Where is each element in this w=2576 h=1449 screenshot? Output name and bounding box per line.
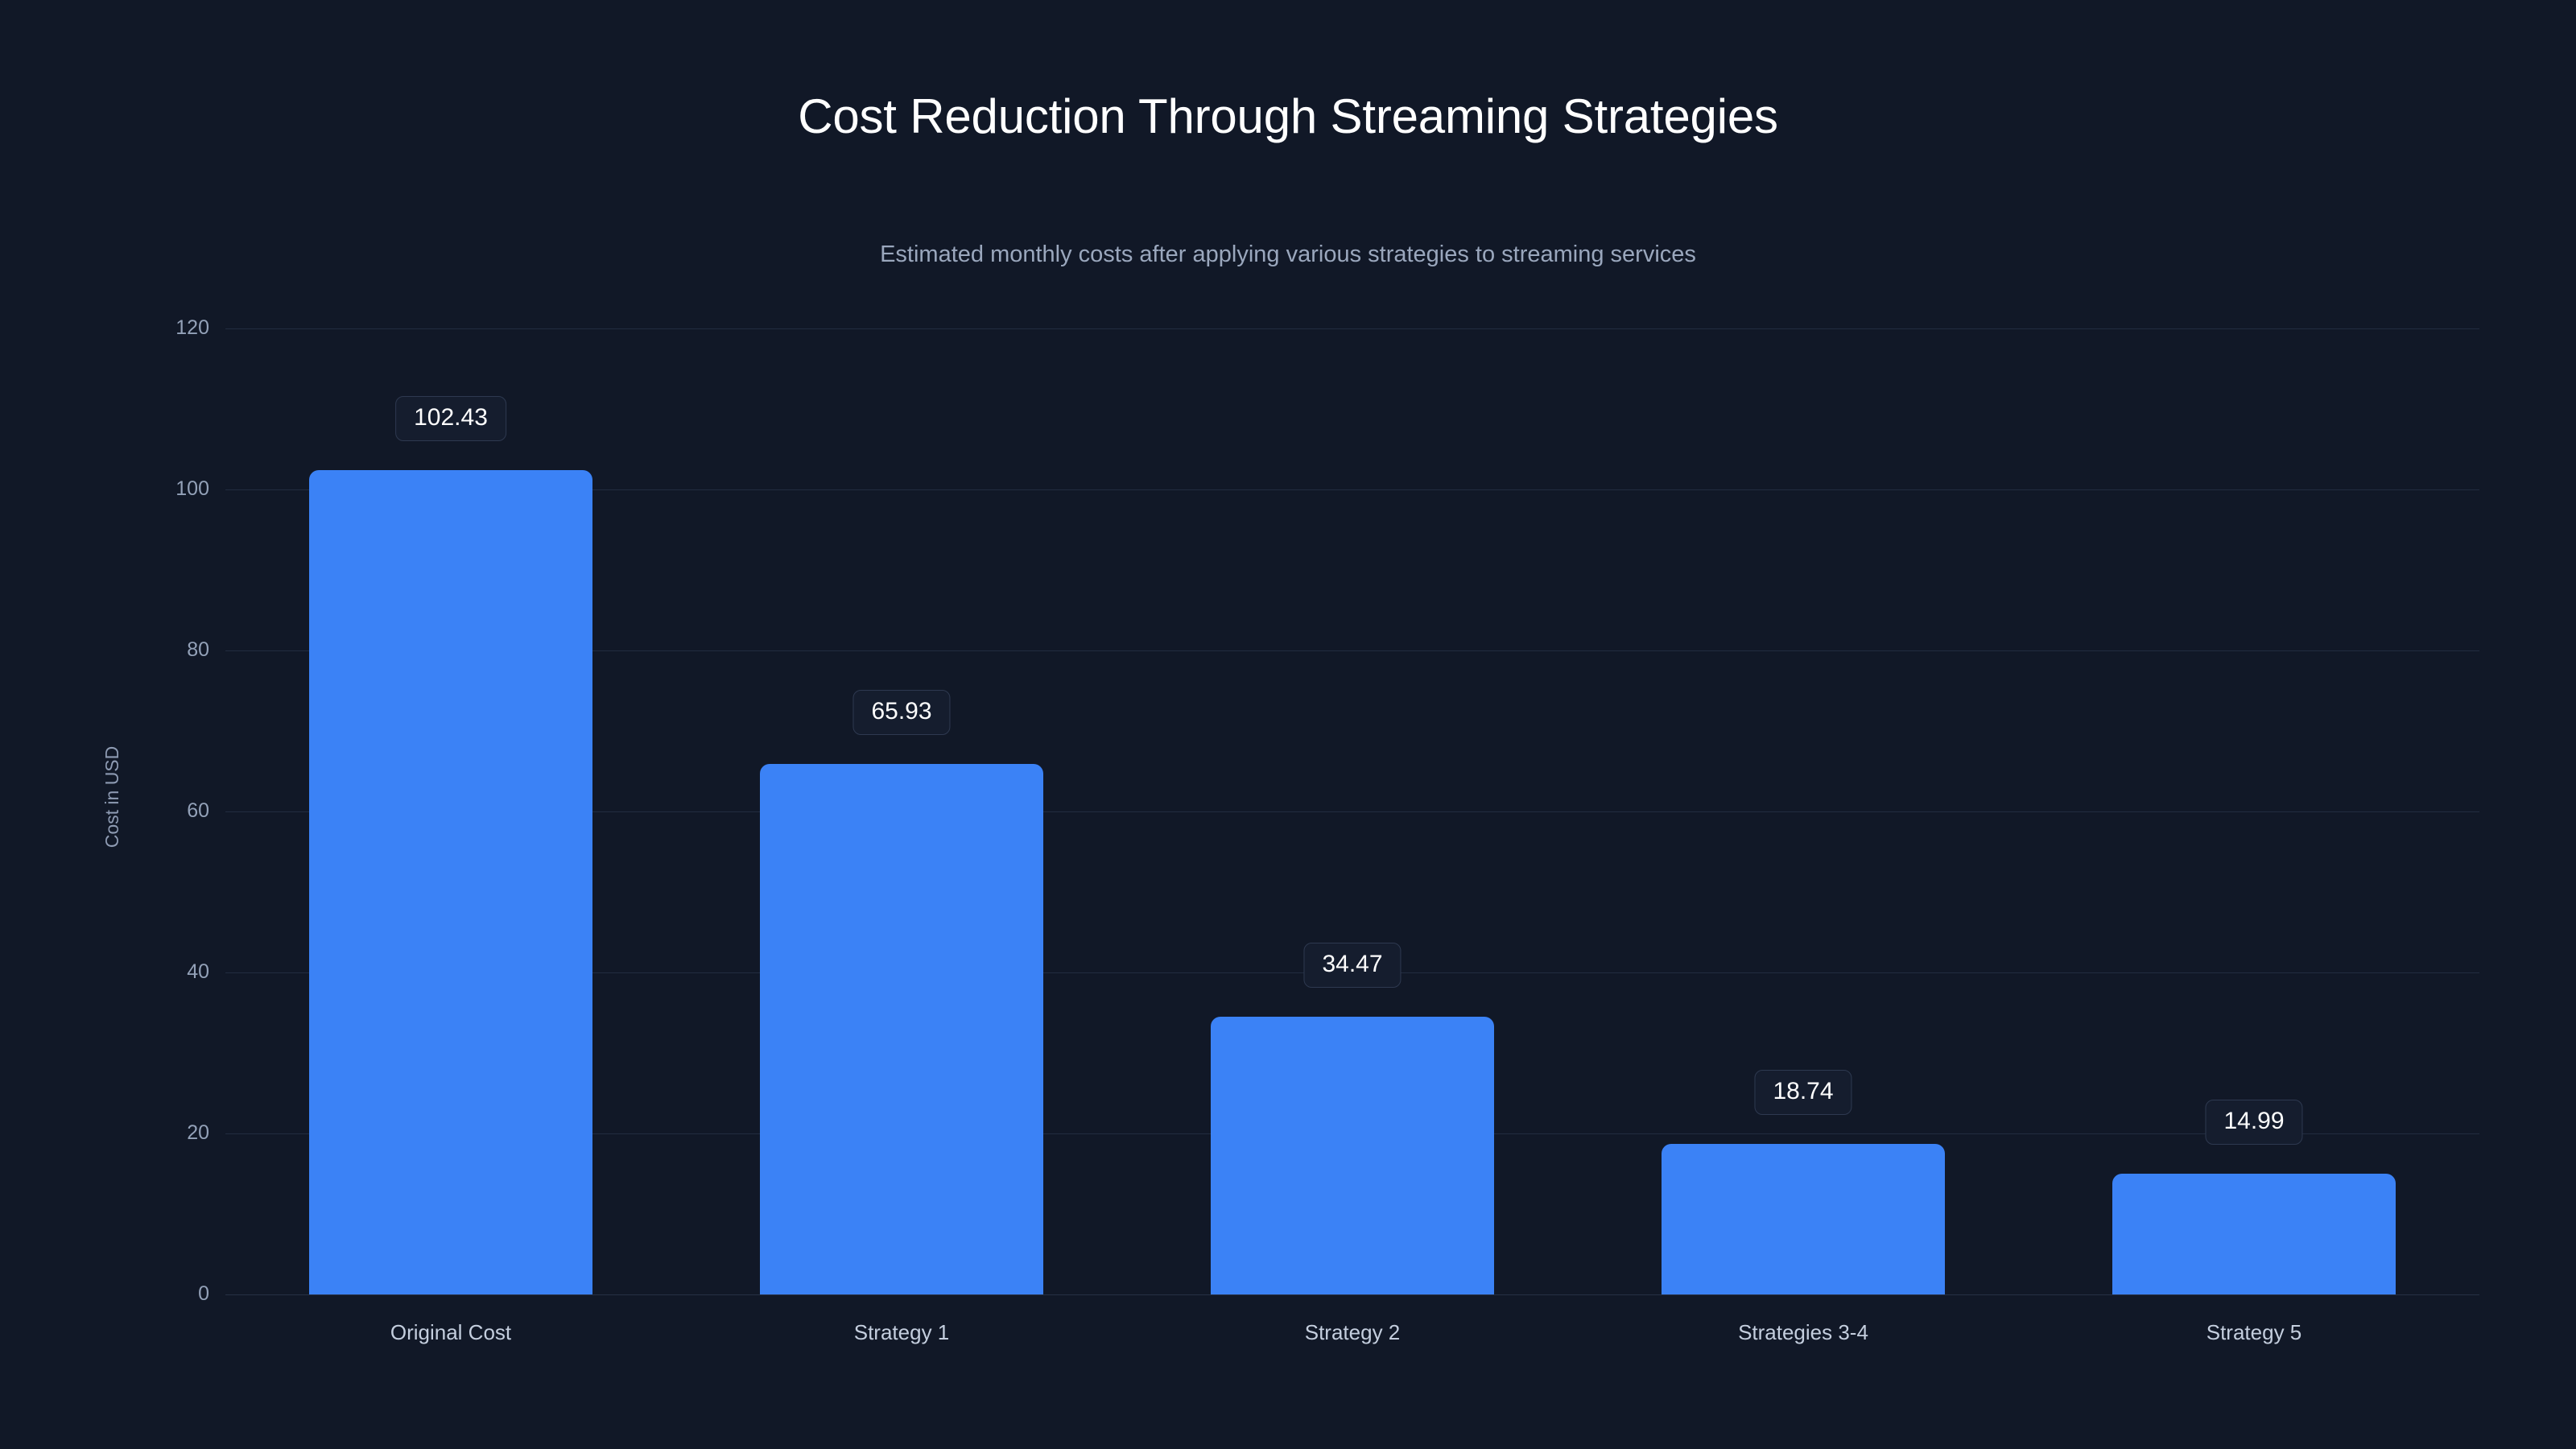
bar-value-label: 18.74 <box>1754 1070 1851 1115</box>
bar[interactable] <box>1662 1144 1945 1294</box>
bar[interactable] <box>309 470 592 1294</box>
bar-value-label: 102.43 <box>395 396 506 441</box>
gridline <box>225 1294 2479 1295</box>
x-axis-category-label: Strategy 5 <box>2207 1320 2302 1345</box>
x-axis-category-label: Strategy 1 <box>854 1320 950 1345</box>
y-axis-tick-label: 100 <box>113 477 209 501</box>
y-axis-tick-label: 0 <box>113 1282 209 1306</box>
bar[interactable] <box>2112 1174 2396 1294</box>
bar[interactable] <box>1211 1017 1494 1294</box>
bar[interactable] <box>760 764 1043 1294</box>
gridline <box>225 328 2479 329</box>
y-axis-tick-label: 120 <box>113 316 209 340</box>
x-axis-category-label: Strategies 3-4 <box>1738 1320 1868 1345</box>
x-axis-category-label: Strategy 2 <box>1305 1320 1401 1345</box>
x-axis-category-label: Original Cost <box>390 1320 511 1345</box>
bar-value-label: 65.93 <box>852 690 950 735</box>
page-title: Cost Reduction Through Streaming Strateg… <box>0 89 2576 144</box>
bar-value-label: 34.47 <box>1303 943 1401 988</box>
chart-subtitle: Estimated monthly costs after applying v… <box>0 242 2576 268</box>
y-axis-tick-label: 80 <box>113 638 209 662</box>
bar-chart: Cost Reduction Through Streaming Strateg… <box>0 0 2576 1449</box>
plot-area: 020406080100120102.43Original Cost65.93S… <box>225 328 2479 1294</box>
y-axis-title: Cost in USD <box>101 660 134 934</box>
y-axis-tick-label: 20 <box>113 1121 209 1145</box>
bar-value-label: 14.99 <box>2205 1100 2302 1145</box>
y-axis-tick-label: 40 <box>113 960 209 984</box>
y-axis-tick-label: 60 <box>113 799 209 823</box>
